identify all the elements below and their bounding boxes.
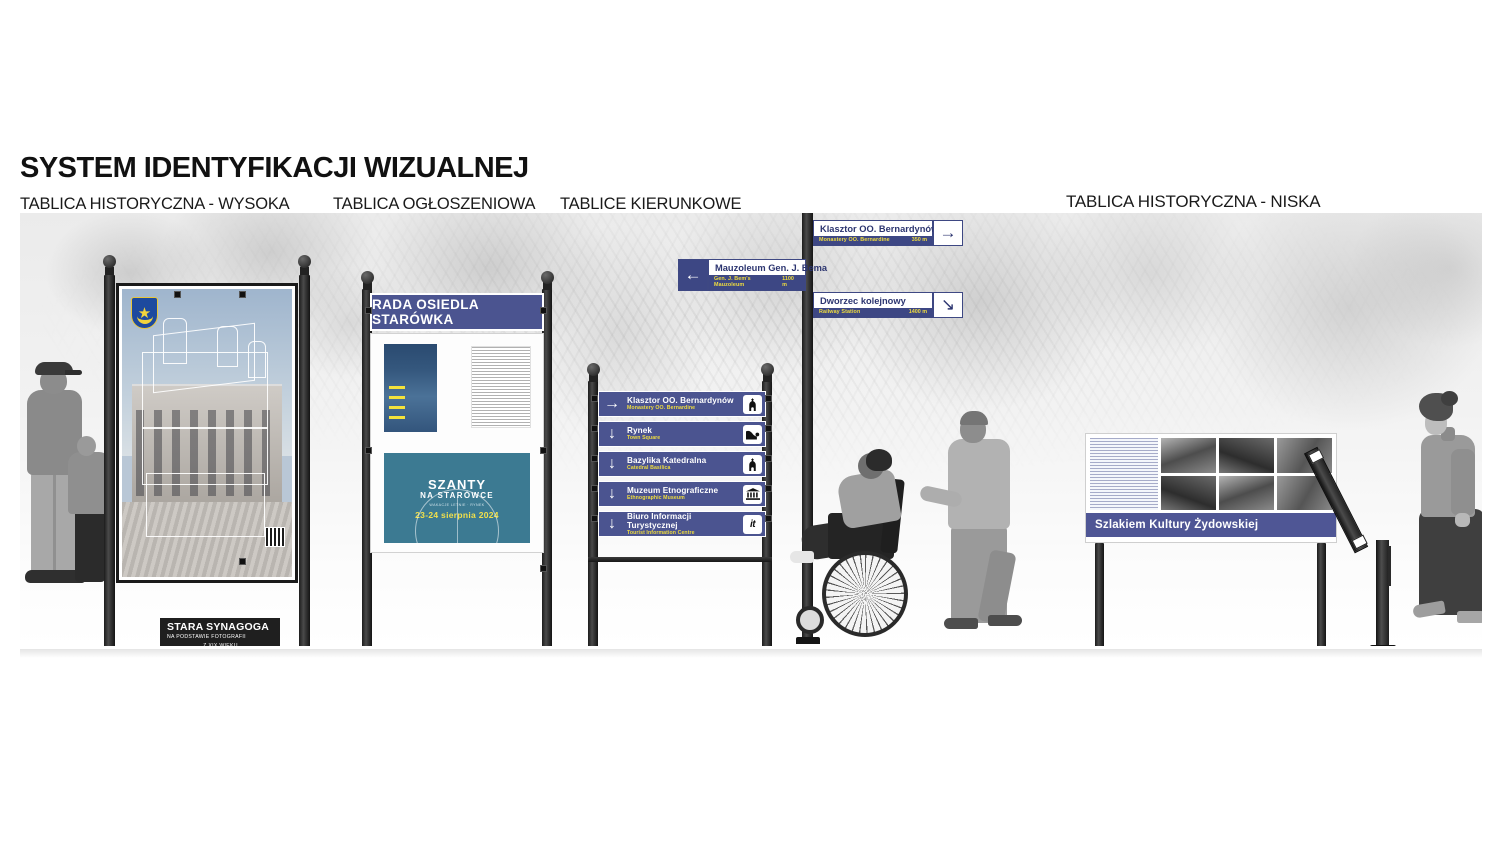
ann-post-finial-left bbox=[361, 271, 374, 284]
dir-post-finial-left bbox=[587, 363, 600, 376]
section-title-direction: TABLICE KIERUNKOWE bbox=[560, 195, 741, 214]
woman-sleeve bbox=[1451, 449, 1475, 515]
man-cap-brim bbox=[65, 370, 82, 375]
wireframe-tower-left bbox=[163, 318, 187, 364]
wireframe-lower bbox=[146, 473, 265, 536]
poster-highlight-2 bbox=[389, 396, 405, 399]
section-foot bbox=[1370, 645, 1396, 646]
section-title-low-historical: TABLICA HISTORYCZNA - NISKA bbox=[1066, 192, 1320, 212]
pole-label-pl: Klasztor OO. Bernardynów bbox=[814, 221, 932, 236]
low-board-panel: Szlakiem Kultury Żydowskiej bbox=[1085, 433, 1337, 543]
low-board-post-right bbox=[1317, 543, 1326, 646]
direction-arrow-icon: ↓ bbox=[599, 456, 625, 472]
announcement-header-text: RADA OSIEDLA STARÓWKA bbox=[372, 297, 542, 327]
announcement-body: SZANTY NA STARÓWCE WAKACJE LETNIE · RYNE… bbox=[370, 333, 544, 553]
caption-subtitle-2: Z XIX WIEKU bbox=[167, 643, 274, 646]
low-board-text-column bbox=[1090, 438, 1158, 510]
dir-bolt-1 bbox=[591, 395, 598, 402]
dir-post-left bbox=[588, 381, 598, 646]
announcement-header: RADA OSIEDLA STARÓWKA bbox=[370, 293, 544, 331]
ann-bolt-mid-right bbox=[540, 447, 547, 454]
low-board-photo-grid bbox=[1161, 438, 1332, 510]
dir-bolt-5 bbox=[591, 455, 598, 462]
pole-subrow: Monastery OO. Bernardine 350 m bbox=[814, 236, 932, 245]
wheelchair-wheel-small bbox=[796, 606, 824, 634]
dir-bolt-7 bbox=[591, 485, 598, 492]
pole-sign-body: Mauzoleum Gen. J. Bema Gen. J. Bem's Mau… bbox=[708, 259, 806, 291]
coat-of-arms-icon: ★ bbox=[131, 297, 158, 329]
ground-shadow bbox=[20, 649, 1482, 658]
woman-hand bbox=[1455, 513, 1470, 527]
pole-label-en: Railway Station bbox=[819, 309, 860, 315]
pole-distance: 350 m bbox=[912, 237, 927, 243]
poster-highlight-3 bbox=[389, 406, 405, 409]
wireframe-tower-right bbox=[248, 341, 267, 378]
woman-shoe-front bbox=[1412, 600, 1446, 618]
low-historical-board[interactable]: Szlakiem Kultury Żydowskiej bbox=[1075, 433, 1345, 646]
section-post-detail bbox=[1388, 546, 1391, 586]
dir-bolt-9 bbox=[591, 515, 598, 522]
poster-highlight-4 bbox=[389, 416, 405, 419]
announcement-board[interactable]: RADA OSIEDLA STARÓWKA SZANTY NA STARÓWCE… bbox=[350, 271, 560, 646]
pole-subrow: Railway Station 1400 m bbox=[814, 308, 932, 317]
scene: ★ STARA SYNAGOGA NA PODSTAWIE FOTOGRAFII… bbox=[20, 213, 1482, 646]
pole-label-pl: Mauzoleum Gen. J. Bema bbox=[709, 260, 805, 275]
direction-arrow-icon: ↓ bbox=[599, 486, 625, 502]
woman-skirt bbox=[1419, 509, 1482, 615]
frame-bolt-bottom bbox=[239, 558, 246, 565]
pole-sign-body: Dworzec kolejnowy Railway Station 1400 m bbox=[813, 292, 933, 318]
wheelchair-wheel-large bbox=[822, 551, 908, 637]
synagogue-photo: ★ bbox=[122, 289, 292, 577]
post-finial-left bbox=[103, 255, 116, 268]
wireframe-band bbox=[142, 427, 268, 429]
pole-sign-klasztor[interactable]: Klasztor OO. Bernardynów Monastery OO. B… bbox=[813, 220, 963, 246]
low-board-content bbox=[1090, 438, 1332, 510]
board-post-right bbox=[299, 275, 310, 646]
presentation-board: SYSTEM IDENTYFIKACJI WIZUALNEJ TABLICA H… bbox=[0, 0, 1500, 844]
ann-bolt-low-right bbox=[540, 565, 547, 572]
frame-bolt-top-left bbox=[174, 291, 181, 298]
direction-arrow-icon: ↓ bbox=[599, 516, 625, 532]
tall-board-frame: ★ bbox=[116, 283, 298, 583]
qr-code-icon[interactable] bbox=[265, 527, 285, 547]
low-board-banner-text: Szlakiem Kultury Żydowskiej bbox=[1086, 519, 1258, 531]
poster-shanty[interactable]: SZANTY NA STARÓWCE WAKACJE LETNIE · RYNE… bbox=[384, 453, 530, 543]
section-title-tall-historical: TABLICA HISTORYCZNA - WYSOKA bbox=[20, 195, 289, 214]
pole-sign-body: Klasztor OO. Bernardynów Monastery OO. B… bbox=[813, 220, 933, 246]
direction-arrow-icon: → bbox=[599, 396, 625, 412]
post-finial-right bbox=[298, 255, 311, 268]
pole-label-en: Gen. J. Bem's Mauzoleum bbox=[714, 276, 782, 288]
companion-torso bbox=[948, 439, 1010, 529]
companion-hair bbox=[960, 411, 988, 425]
companion-shoe-back bbox=[988, 615, 1022, 626]
wheelchair-user-hair bbox=[866, 449, 892, 471]
pole-arrow-icon: ↘ bbox=[933, 292, 963, 318]
ann-post-finial-right bbox=[541, 271, 554, 284]
ann-bolt-right bbox=[540, 307, 547, 314]
direction-arrow-icon: ↓ bbox=[599, 426, 625, 442]
pole-label-en: Monastery OO. Bernardine bbox=[819, 237, 890, 243]
pole-subrow: Gen. J. Bem's Mauzoleum 1100 m bbox=[709, 275, 805, 290]
pole-arrow-icon: → bbox=[933, 220, 963, 246]
board-post-left bbox=[104, 275, 115, 646]
pole-label-pl: Dworzec kolejnowy bbox=[814, 293, 932, 308]
post-neck-right bbox=[300, 267, 309, 275]
pole-arrow-icon: ← bbox=[678, 259, 708, 291]
wireframe-tower-mid bbox=[217, 326, 237, 366]
wheelchair-user-foot bbox=[790, 551, 814, 563]
ann-bolt-mid-left bbox=[365, 447, 372, 454]
pole-distance: 1400 m bbox=[909, 309, 927, 315]
tall-board-caption: STARA SYNAGOGA NA PODSTAWIE FOTOGRAFII Z… bbox=[160, 618, 280, 646]
figure-walking-woman bbox=[1405, 391, 1482, 631]
child-head bbox=[77, 436, 96, 456]
frame-bolt-top-right bbox=[239, 291, 246, 298]
pole-sign-dworzec[interactable]: Dworzec kolejnowy Railway Station 1400 m… bbox=[813, 292, 963, 318]
companion-shoe-front bbox=[944, 618, 978, 629]
historical-photo bbox=[1161, 476, 1216, 511]
dir-bolt-3 bbox=[591, 425, 598, 432]
woman-shoe-back bbox=[1457, 611, 1482, 623]
ann-bolt-left bbox=[365, 307, 372, 314]
tall-historical-board[interactable]: ★ STARA SYNAGOGA NA PODSTAWIE FOTOGRAFII… bbox=[98, 253, 318, 646]
figure-wheelchair-group bbox=[788, 401, 1038, 641]
page-title: SYSTEM IDENTYFIKACJI WIZUALNEJ bbox=[20, 152, 529, 185]
low-board-banner: Szlakiem Kultury Żydowskiej bbox=[1086, 513, 1336, 537]
poster-sea[interactable] bbox=[384, 344, 437, 432]
low-board-post-left bbox=[1095, 543, 1104, 646]
section-title-announcement: TABLICA OGŁOSZENIOWA bbox=[333, 195, 535, 214]
post-neck-left bbox=[105, 267, 114, 275]
pole-distance: 1100 m bbox=[782, 276, 800, 288]
pole-sign-mauzoleum[interactable]: ← Mauzoleum Gen. J. Bema Gen. J. Bem's M… bbox=[678, 259, 806, 291]
poster-highlight-1 bbox=[389, 386, 405, 389]
poster-document-list[interactable] bbox=[471, 346, 531, 428]
caption-subtitle-1: NA PODSTAWIE FOTOGRAFII bbox=[167, 634, 274, 642]
historical-photo bbox=[1219, 438, 1274, 473]
historical-photo bbox=[1161, 438, 1216, 473]
woman-hair-bun bbox=[1441, 391, 1458, 406]
historical-photo bbox=[1219, 476, 1274, 511]
crescent-moon-icon bbox=[137, 316, 153, 324]
caption-title: STARA SYNAGOGA bbox=[167, 621, 274, 633]
